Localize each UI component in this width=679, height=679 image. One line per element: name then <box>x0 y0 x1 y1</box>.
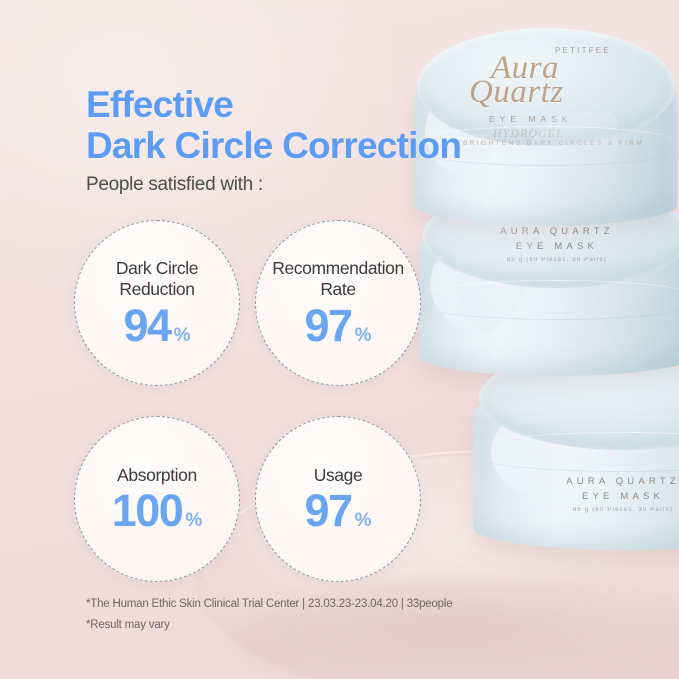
jar-label-line2: EYE MASK <box>473 491 679 502</box>
subheadline: People satisfied with : <box>86 174 263 196</box>
jar-label-line1: AURA QUARTZ <box>473 476 679 487</box>
headline-line-1: Effective <box>86 84 461 125</box>
stat-label-line1: Recommendation <box>272 258 404 278</box>
stat-value-row: 100 % <box>112 488 203 533</box>
footnote-clinical-trial: *The Human Ethic Skin Clinical Trial Cen… <box>86 594 452 615</box>
stat-unit: % <box>174 325 191 347</box>
stat-label: Recommendation Rate <box>266 258 410 299</box>
footnote-group: *The Human Ethic Skin Clinical Trial Cen… <box>86 594 452 637</box>
jar-label-line2: EYE MASK <box>423 241 679 252</box>
stat-value: 100 <box>112 488 183 533</box>
page-title: Effective Dark Circle Correction <box>86 84 461 167</box>
stat-label-line2: Reduction <box>119 279 194 299</box>
stat-circle-absorption: Absorption 100 % <box>74 416 240 582</box>
jar-lid-subtitle: EYE MASK <box>489 114 572 124</box>
stat-label-line1: Absorption <box>117 465 197 485</box>
jar-side-label: AURA QUARTZ EYE MASK 85 g (60 Pieces, 30… <box>473 476 679 513</box>
stat-label-line2: Rate <box>320 279 355 299</box>
stat-value-row: 97 % <box>305 488 372 533</box>
stat-value: 97 <box>305 488 352 533</box>
footnote-disclaimer: *Result may vary <box>86 615 452 636</box>
stat-unit: % <box>355 325 372 347</box>
jar-label-line3: 85 g (60 Pieces, 30 Pairs) <box>423 257 679 263</box>
jar-lid-label: AURA QUARTZ EYE MASK 85 g (60 Pieces, 30… <box>423 226 679 263</box>
stat-unit: % <box>185 510 202 532</box>
stat-value: 97 <box>305 303 352 348</box>
stat-unit: % <box>355 510 372 532</box>
stat-label-line1: Dark Circle <box>116 258 198 278</box>
jar-label-line3: 85 g (60 Pieces, 30 Pairs) <box>473 507 679 513</box>
headline-line-2: Dark Circle Correction <box>86 125 461 166</box>
stat-label: Dark Circle Reduction <box>110 258 204 299</box>
stat-value-row: 94 % <box>124 303 191 348</box>
stat-label: Usage <box>308 465 369 485</box>
jar-brand-text: PETITFEE <box>555 46 611 55</box>
jar-title-line2: Quartz <box>469 78 564 106</box>
stat-circle-recommendation-rate: Recommendation Rate 97 % <box>255 220 421 386</box>
stat-label-line1: Usage <box>314 465 363 485</box>
stat-value-row: 97 % <box>305 303 372 348</box>
stat-circle-dark-circle-reduction: Dark Circle Reduction 94 % <box>74 220 240 386</box>
stat-label: Absorption <box>111 465 203 485</box>
stat-circle-usage: Usage 97 % <box>255 416 421 582</box>
jar-seam-line <box>421 280 679 320</box>
stat-value: 94 <box>124 303 171 348</box>
product-infographic-poster: AURA QUARTZ EYE MASK 85 g (60 Pieces, 30… <box>0 0 679 679</box>
jar-label-line1: AURA QUARTZ <box>423 226 679 237</box>
